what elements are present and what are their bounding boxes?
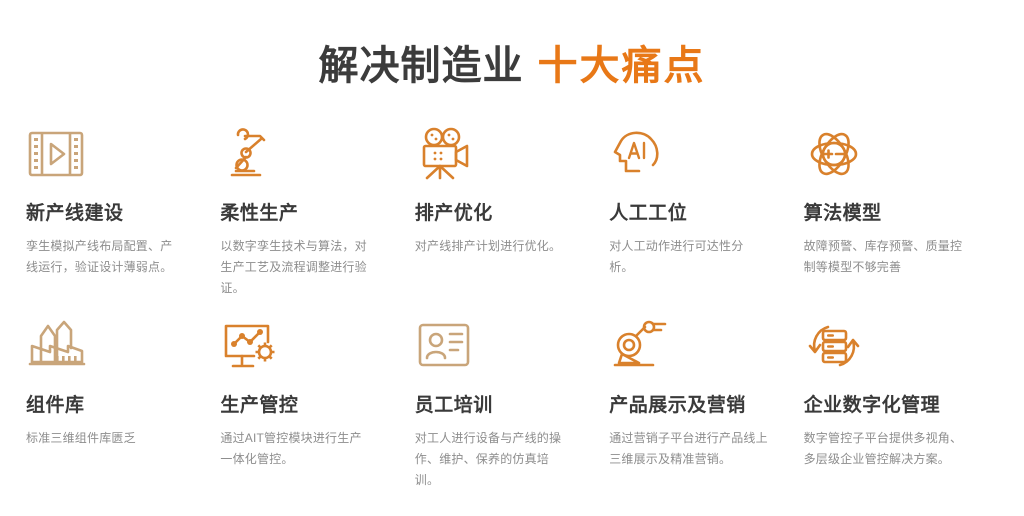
page-title-main: 解决制造业 <box>319 46 524 86</box>
card-description: 对工人进行设备与产线的操作、维护、保养的仿真培训。 <box>415 428 567 491</box>
factory-icon <box>26 314 198 378</box>
pain-points-grid: 新产线建设 孪生模拟产线布局配置、产线运行，验证设计薄弱点。 <box>0 122 1024 506</box>
card-description: 通过营销子平台进行产品线上三维展示及精准营销。 <box>609 428 777 470</box>
card-product-display-marketing[interactable]: 产品展示及营销 通过营销子平台进行产品线上三维展示及精准营销。 <box>609 314 803 506</box>
card-title: 生产管控 <box>220 396 392 417</box>
card-manual-workstation[interactable]: 人工工位 对人工动作进行可达性分析。 <box>609 122 803 314</box>
robot-arm-icon <box>220 122 392 186</box>
card-algorithm-model[interactable]: 算法模型 故障预警、库存预警、质量控制等模型不够完善 <box>804 122 998 314</box>
card-title: 企业数字化管理 <box>804 396 976 417</box>
ai-head-icon <box>609 122 781 186</box>
card-description: 故障预警、库存预警、质量控制等模型不够完善 <box>804 236 972 278</box>
card-description: 对人工动作进行可达性分析。 <box>609 236 761 278</box>
monitor-gear-network-icon <box>220 314 392 378</box>
card-new-production-line[interactable]: 新产线建设 孪生模拟产线布局配置、产线运行，验证设计薄弱点。 <box>26 122 220 314</box>
atom-plus-minus-icon <box>804 122 976 186</box>
card-title: 组件库 <box>26 396 198 417</box>
page-title: 解决制造业十大痛点 <box>0 0 1024 86</box>
industrial-robot-icon <box>609 314 781 378</box>
card-title: 员工培训 <box>415 396 587 417</box>
pain-points-page: 解决制造业十大痛点 <box>0 0 1024 516</box>
card-flexible-production[interactable]: 柔性生产 以数字孪生技术与算法，对生产工艺及流程调整进行验证。 <box>220 122 414 314</box>
card-description: 对产线排产计划进行优化。 <box>415 236 567 257</box>
card-description: 通过AIT管控模块进行生产一体化管控。 <box>220 428 372 470</box>
page-title-accent: 十大痛点 <box>538 46 706 86</box>
card-title: 人工工位 <box>609 204 781 225</box>
database-sync-icon <box>804 314 976 378</box>
card-title: 柔性生产 <box>220 204 392 225</box>
card-title: 排产优化 <box>415 204 587 225</box>
id-badge-person-icon <box>415 314 587 378</box>
card-description: 孪生模拟产线布局配置、产线运行，验证设计薄弱点。 <box>26 236 178 278</box>
movie-camera-icon <box>415 122 587 186</box>
card-description: 以数字孪生技术与算法，对生产工艺及流程调整进行验证。 <box>220 236 372 299</box>
card-description: 数字管控子平台提供多视角、多层级企业管控解决方案。 <box>804 428 972 470</box>
card-title: 算法模型 <box>804 204 976 225</box>
card-title: 新产线建设 <box>26 204 198 225</box>
card-title: 产品展示及营销 <box>609 396 781 417</box>
card-description: 标准三维组件库匮乏 <box>26 428 198 449</box>
card-production-control[interactable]: 生产管控 通过AIT管控模块进行生产一体化管控。 <box>220 314 414 506</box>
film-strip-play-icon <box>26 122 198 186</box>
card-staff-training[interactable]: 员工培训 对工人进行设备与产线的操作、维护、保养的仿真培训。 <box>415 314 609 506</box>
card-scheduling-optimization[interactable]: 排产优化 对产线排产计划进行优化。 <box>415 122 609 314</box>
card-component-library[interactable]: 组件库 标准三维组件库匮乏 <box>26 314 220 506</box>
card-enterprise-digital-management[interactable]: 企业数字化管理 数字管控子平台提供多视角、多层级企业管控解决方案。 <box>804 314 998 506</box>
